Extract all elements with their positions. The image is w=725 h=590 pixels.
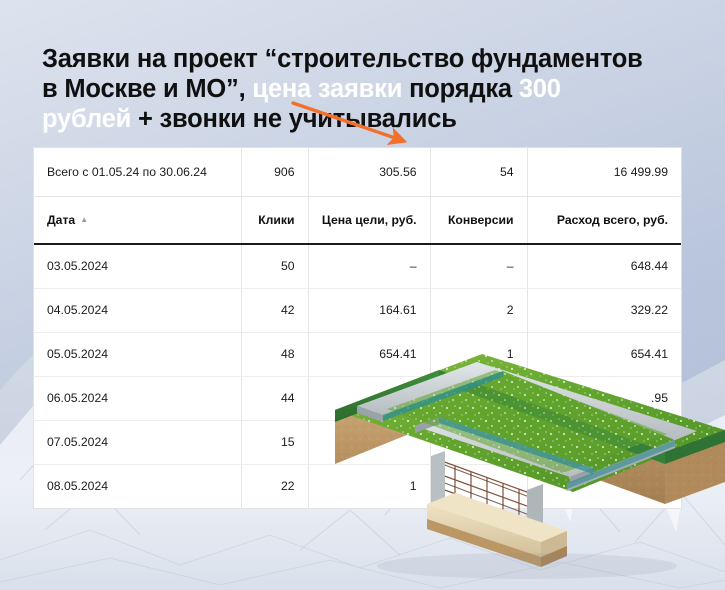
totals-goal-price: 305.56 [308,148,430,196]
row-clicks: 42 [241,288,308,332]
table-row: 07.05.202415 [34,420,681,464]
table-row: 06.05.202444274.92.95 [34,376,681,420]
row-conversions [430,464,527,508]
row-goal-price: 1 [308,464,430,508]
row-date: 05.05.2024 [34,332,241,376]
row-spend: 329.22 [527,288,681,332]
row-date: 08.05.2024 [34,464,241,508]
row-clicks: 48 [241,332,308,376]
title-line3-tail: + звонки не учитывались [131,105,457,133]
row-date: 04.05.2024 [34,288,241,332]
table-body: 03.05.202450––648.4404.05.202442164.6123… [34,244,681,508]
column-header-date[interactable]: Дата▲ [34,196,241,244]
row-spend [527,420,681,464]
row-goal-price: 164.61 [308,288,430,332]
row-date: 06.05.2024 [34,376,241,420]
row-conversions: 2 [430,288,527,332]
column-header-row[interactable]: Дата▲ Клики Цена цели, руб. Конверсии Ра… [34,196,681,244]
sort-ascending-icon[interactable]: ▲ [80,215,88,224]
column-header-clicks[interactable]: Клики [241,196,308,244]
title-highlight-amount: 300 [519,75,561,103]
table-row: 03.05.202450––648.44 [34,244,681,288]
totals-spend: 16 499.99 [527,148,681,196]
metrics-table[interactable]: Всего с 01.05.24 по 30.06.24 906 305.56 … [34,148,681,508]
row-clicks: 44 [241,376,308,420]
column-header-date-label: Дата [47,213,75,227]
row-conversions [430,420,527,464]
row-spend: .95 [527,376,681,420]
row-spend [527,464,681,508]
title-highlight-price: цена заявки [252,75,402,103]
row-conversions: 1 [430,332,527,376]
row-clicks: 22 [241,464,308,508]
table-head: Всего с 01.05.24 по 30.06.24 906 305.56 … [34,148,681,196]
totals-clicks: 906 [241,148,308,196]
row-spend: 648.44 [527,244,681,288]
totals-row: Всего с 01.05.24 по 30.06.24 906 305.56 … [34,148,681,196]
totals-label: Всего с 01.05.24 по 30.06.24 [34,148,241,196]
title-line2-mid: порядка [402,75,519,103]
row-goal-price: – [308,244,430,288]
row-goal-price [308,420,430,464]
title-line2-lead: в Москве и МО”, [42,75,252,103]
row-clicks: 15 [241,420,308,464]
totals-conversions: 54 [430,148,527,196]
column-header-goal-price[interactable]: Цена цели, руб. [308,196,430,244]
table-row: 05.05.202448654.411654.41 [34,332,681,376]
row-date: 07.05.2024 [34,420,241,464]
row-goal-price: 274.92 [308,376,430,420]
title-highlight-rubles: рублей [42,105,131,133]
table-row: 08.05.2024221 [34,464,681,508]
column-header-spend[interactable]: Расход всего, руб. [527,196,681,244]
page-title: Заявки на проект “строительство фундамен… [42,44,712,134]
row-conversions: – [430,244,527,288]
column-header-conversions[interactable]: Конверсии [430,196,527,244]
row-clicks: 50 [241,244,308,288]
title-line1: Заявки на проект “строительство фундамен… [42,45,643,73]
row-goal-price: 654.41 [308,332,430,376]
table-row: 04.05.202442164.612329.22 [34,288,681,332]
row-date: 03.05.2024 [34,244,241,288]
row-spend: 654.41 [527,332,681,376]
row-conversions [430,376,527,420]
